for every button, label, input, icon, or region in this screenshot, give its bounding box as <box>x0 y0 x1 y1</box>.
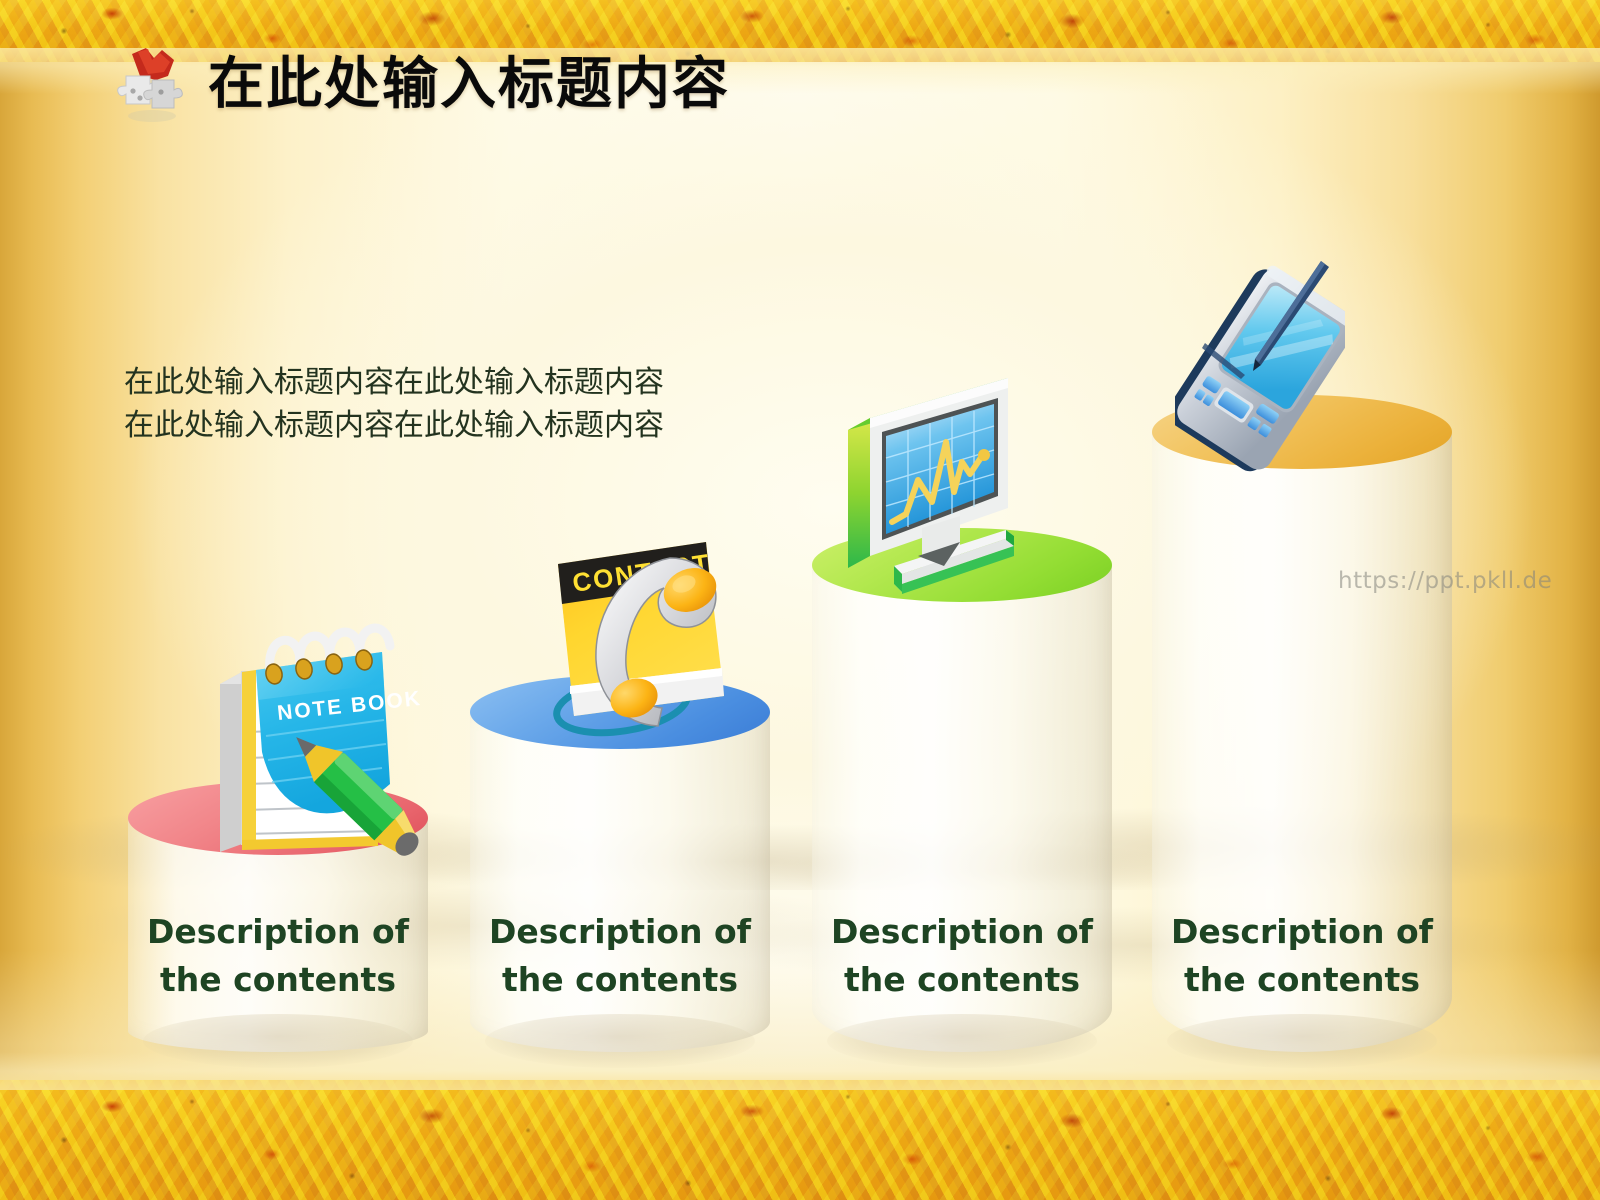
watermark-url: https://ppt.pkll.de <box>1338 568 1552 594</box>
body-text-line-1: 在此处输入标题内容在此处输入标题内容 <box>124 362 824 405</box>
contact-phone-icon[interactable]: CONTACT <box>518 530 743 745</box>
podium-4-caption-line1: Description of <box>1152 908 1452 956</box>
podium-3-base-shadow <box>827 1014 1097 1068</box>
body-paragraph: 在此处输入标题内容在此处输入标题内容 在此处输入标题内容在此处输入标题内容 <box>124 362 824 447</box>
podium-4-caption-line2: the contents <box>1152 956 1452 1004</box>
ornate-border-bottom <box>0 1080 1600 1200</box>
body-text-line-2: 在此处输入标题内容在此处输入标题内容 <box>124 405 824 448</box>
podium-column-4[interactable]: Description of the contents <box>1152 432 1452 1052</box>
monitor-chart-icon[interactable] <box>848 370 1048 615</box>
podium-4-base-shadow <box>1167 1014 1437 1068</box>
podium-3-caption: Description of the contents <box>812 908 1112 1004</box>
page-title: 在此处输入标题内容 <box>208 56 730 115</box>
podium-2-base-shadow <box>485 1014 755 1068</box>
podium-3-caption-line1: Description of <box>812 908 1112 956</box>
pda-stylus-icon[interactable] <box>1175 255 1345 485</box>
podium-1-caption: Description of the contents <box>128 908 428 1004</box>
podium-1-caption-line2: the contents <box>128 956 428 1004</box>
podium-column-3[interactable]: Description of the contents <box>812 565 1112 1052</box>
podium-2-caption-line1: Description of <box>470 908 770 956</box>
podium-2-caption: Description of the contents <box>470 908 770 1004</box>
podium-2-caption-line2: the contents <box>470 956 770 1004</box>
podium-1-caption-line1: Description of <box>128 908 428 956</box>
podium-column-2[interactable]: Description of the contents <box>470 712 770 1052</box>
notebook-pencil-icon[interactable]: NOTE BOOK <box>182 612 442 867</box>
slide-canvas: Description of the contents Description … <box>0 0 1600 1200</box>
puzzle-piece-icon <box>116 46 186 134</box>
podium-4-caption: Description of the contents <box>1152 908 1452 1004</box>
podium-1-base-shadow <box>143 1014 413 1068</box>
podium-3-caption-line2: the contents <box>812 956 1112 1004</box>
